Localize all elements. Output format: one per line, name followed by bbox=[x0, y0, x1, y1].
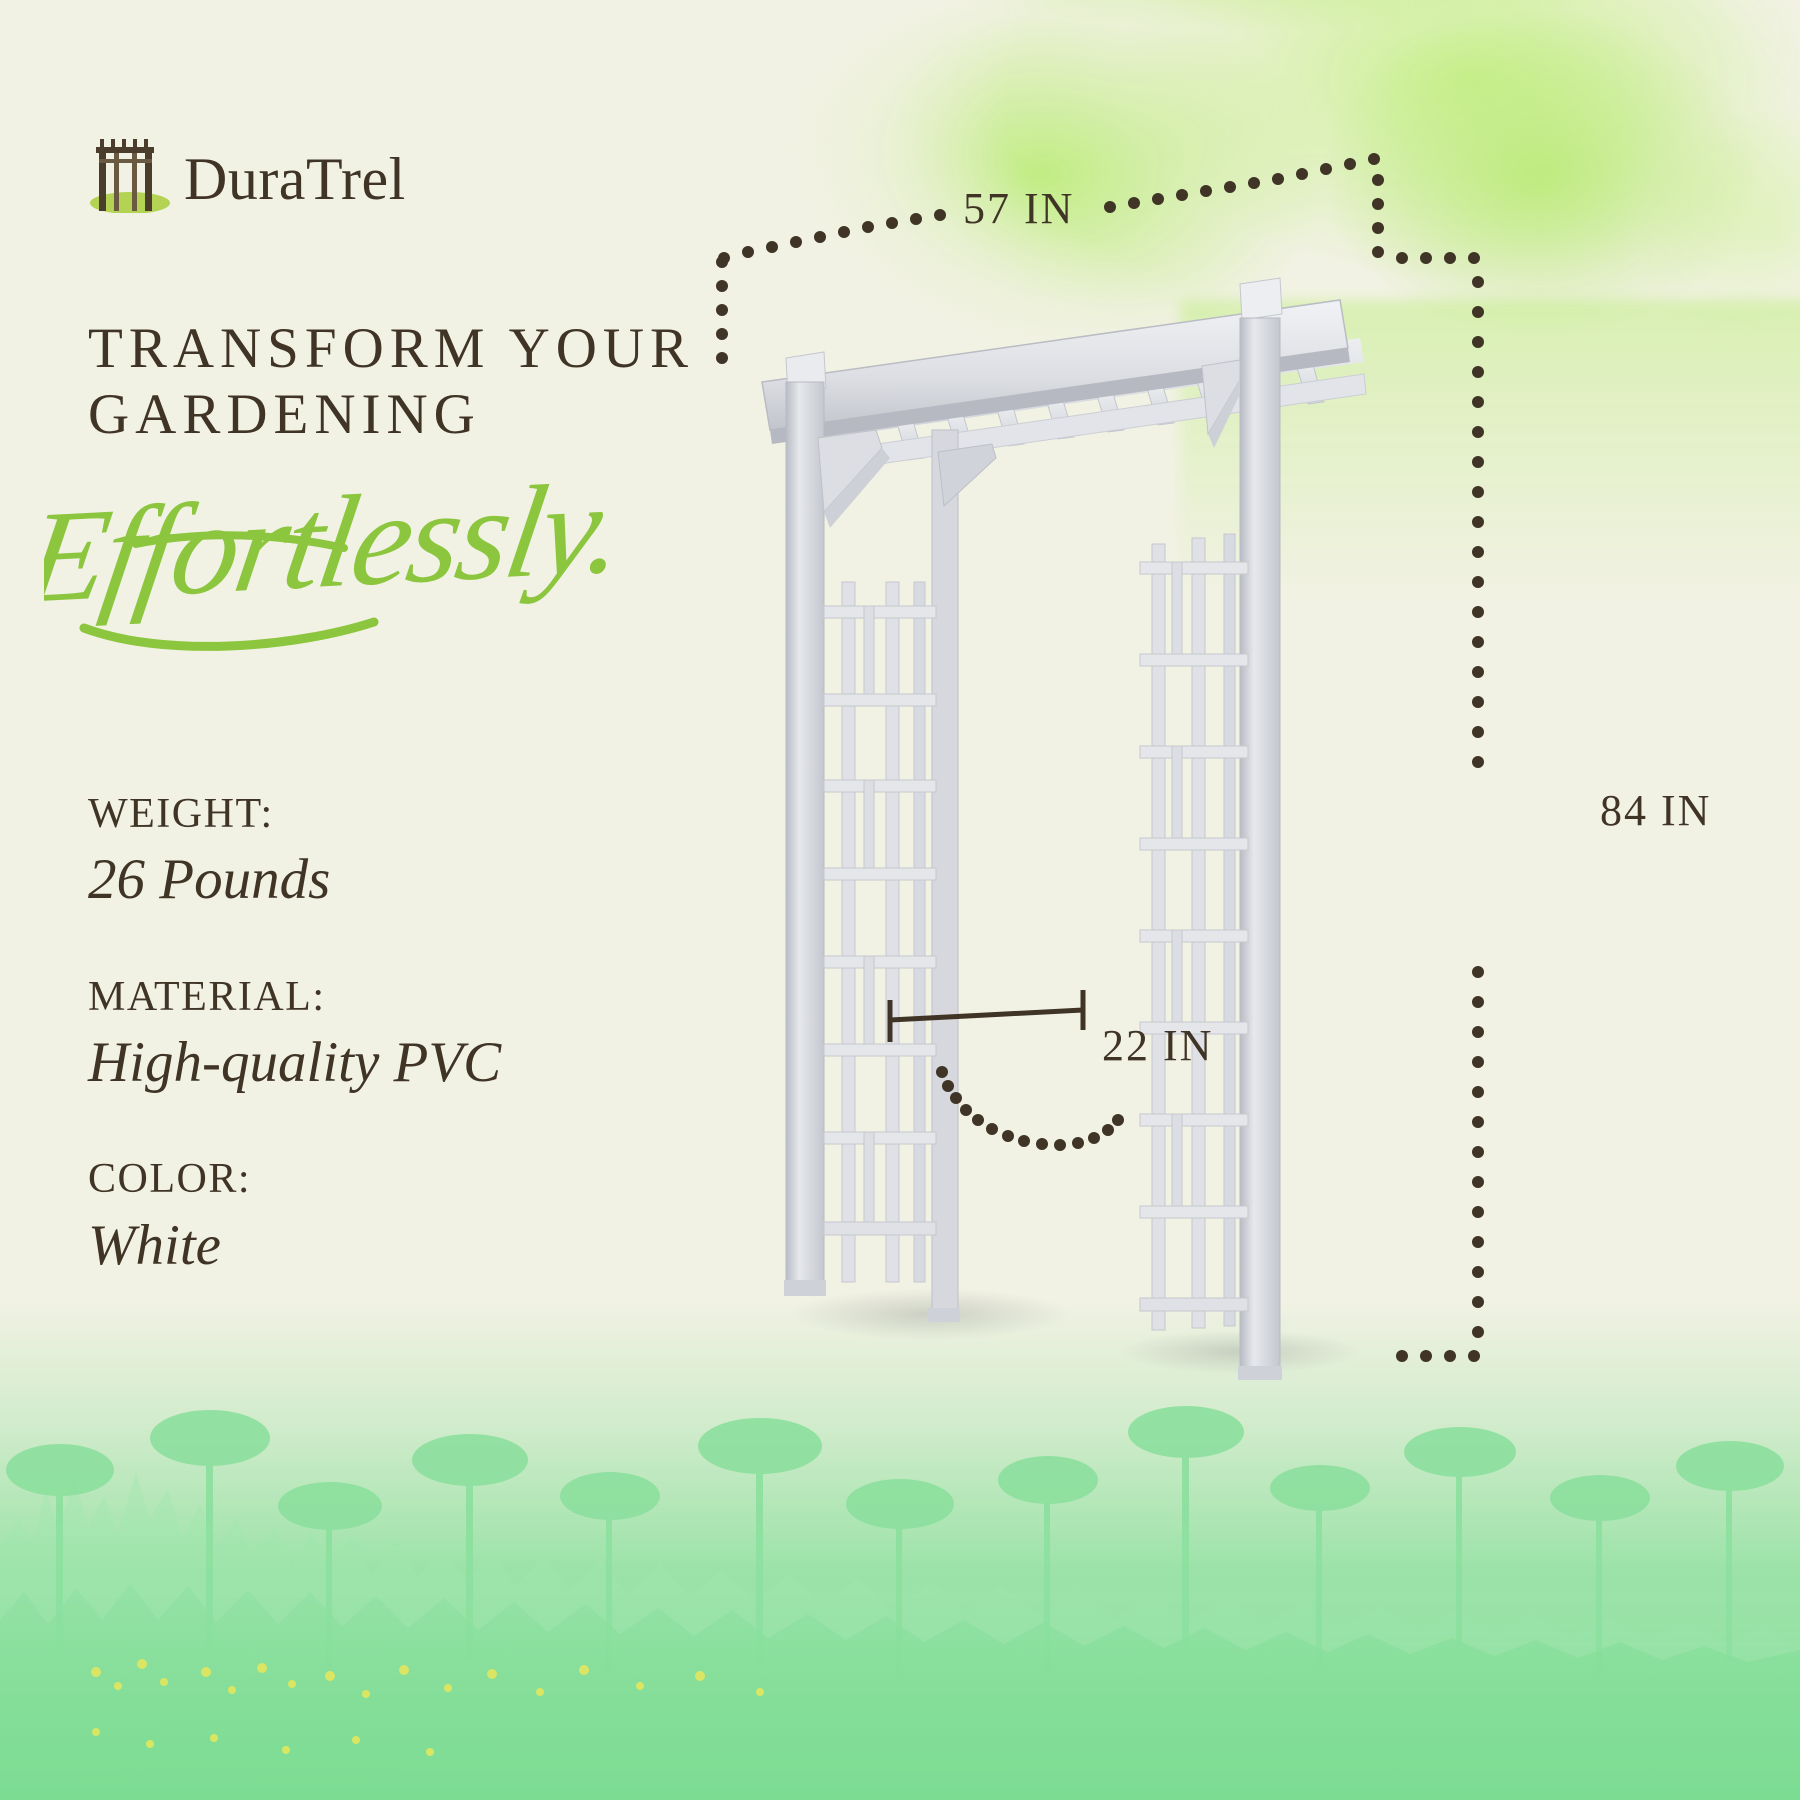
spec-item-color: COLOR: White bbox=[88, 1155, 728, 1280]
arbor-logo-icon bbox=[88, 133, 170, 213]
dim-84-leader bbox=[1396, 252, 1484, 1362]
spec-list: WEIGHT: 26 Pounds MATERIAL: High-quality… bbox=[88, 790, 728, 1338]
dim-57-leader-right bbox=[1104, 153, 1384, 258]
foliage-silhouette bbox=[0, 1320, 1800, 1800]
svg-text:Effortlessly.: Effortlessly. bbox=[44, 454, 633, 631]
watercolor-wash-bottom-right bbox=[980, 1370, 1800, 1800]
spec-item-weight: WEIGHT: 26 Pounds bbox=[88, 790, 728, 915]
product-image-arbor bbox=[700, 262, 1400, 1382]
spec-label-weight: WEIGHT: bbox=[88, 790, 728, 838]
poster-canvas: DuraTrel TRANSFORM YOUR GARDENING Effort… bbox=[0, 0, 1800, 1800]
spec-label-color: COLOR: bbox=[88, 1155, 728, 1203]
spec-value-weight: 26 Pounds bbox=[88, 846, 728, 914]
watercolor-wash-bottom-left bbox=[0, 1320, 900, 1800]
headline-script-word: Effortlessly. bbox=[44, 452, 804, 662]
dimension-label-depth: 22 IN bbox=[1102, 1020, 1213, 1071]
spec-item-material: MATERIAL: High-quality PVC bbox=[88, 973, 728, 1098]
brand-name: DuraTrel bbox=[184, 149, 406, 209]
headline-line-1: TRANSFORM YOUR bbox=[88, 316, 768, 382]
spec-label-material: MATERIAL: bbox=[88, 973, 728, 1021]
headline-line-2: GARDENING bbox=[88, 382, 768, 448]
watercolor-wash-bottom-mid bbox=[560, 1400, 1380, 1800]
spec-value-color: White bbox=[88, 1212, 728, 1280]
spec-value-material: High-quality PVC bbox=[88, 1029, 728, 1097]
brand-logo[interactable]: DuraTrel bbox=[88, 133, 406, 213]
dimension-label-width: 57 IN bbox=[963, 183, 1074, 234]
page-title: TRANSFORM YOUR GARDENING bbox=[88, 316, 768, 448]
dimension-label-height: 84 IN bbox=[1600, 785, 1711, 836]
